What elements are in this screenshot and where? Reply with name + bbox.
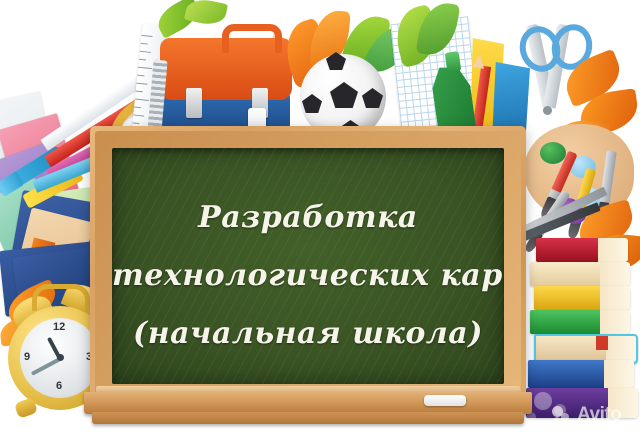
avito-watermark: Avito (552, 404, 621, 426)
book-pages (604, 360, 634, 388)
board-line-2: технологических карт (112, 258, 504, 293)
book-blue (528, 360, 634, 388)
scissors-pivot (543, 106, 552, 115)
chalk (424, 395, 466, 406)
board-line-3: (начальная школа) (112, 316, 504, 351)
board-line-1: Разработка (112, 200, 504, 235)
image-canvas: 12 9 6 3 Разработка технологических карт… (0, 0, 640, 433)
book-yellow (534, 286, 630, 310)
soccer-ball-patch-left (302, 94, 322, 113)
autumn-leaf-green-2 (184, 0, 228, 28)
avito-watermark-text: Avito (577, 404, 621, 426)
alarm-clock-face: 12 9 6 3 (20, 318, 100, 398)
book-pages (598, 238, 628, 262)
school-satchel-handle (222, 24, 282, 53)
soccer-ball-patch-center (330, 82, 358, 108)
chalkboard: Разработка технологических карт (начальн… (90, 126, 526, 408)
book-pages (600, 262, 630, 286)
satchel-buckle-left (186, 88, 202, 118)
chalkboard-surface: Разработка технологических карт (начальн… (112, 148, 504, 384)
book-pages (606, 336, 636, 362)
clock-minute-hand (31, 357, 61, 376)
book-cream (530, 262, 630, 286)
soccer-ball-patch-right (362, 88, 383, 108)
book-pages (600, 310, 630, 334)
bookmark-red (596, 336, 608, 350)
decorative-bubble-1 (534, 392, 552, 410)
book-red (536, 238, 628, 262)
glue-bottle-cap (445, 51, 462, 73)
chalkboard-ledge-base (92, 412, 524, 424)
avito-logo-icon (552, 404, 574, 426)
pencil-red-right-tip (472, 53, 486, 69)
paint-dab-green (540, 142, 566, 164)
book-green (530, 310, 630, 334)
book-pages (600, 286, 630, 310)
